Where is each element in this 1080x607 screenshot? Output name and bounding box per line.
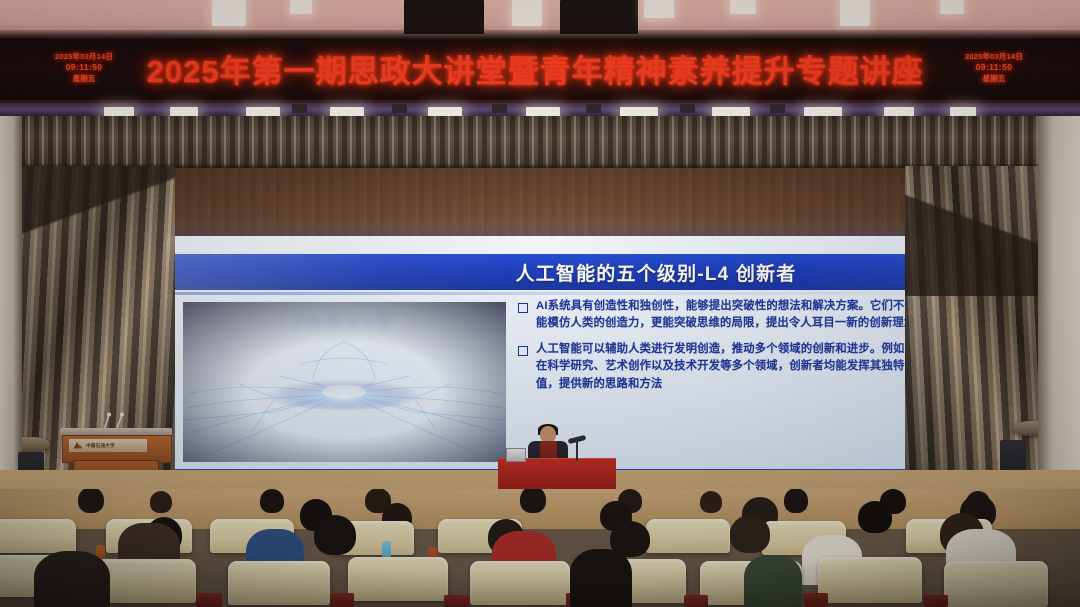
audience-vignette: [0, 489, 1080, 607]
podium-plate-text: 中国石油大学: [86, 443, 115, 449]
ceiling-panel: [560, 0, 638, 34]
slide-title-underline: [166, 292, 928, 295]
ceiling-light: [644, 0, 674, 18]
led-banner: 2025年03月14日 09:11:50 星期五 2025年第一期思政大讲堂暨青…: [0, 38, 1080, 102]
stage-lamp-housing: [680, 104, 695, 113]
side-wall-left: [0, 116, 22, 496]
ceiling-light: [512, 0, 542, 26]
list-item: 人工智能可以辅助人类进行发明创造，推动多个领域的创新和进步。例如，在科学研究、艺…: [518, 341, 916, 392]
stage-lamp-housing: [770, 104, 785, 113]
bullet-text: 人工智能可以辅助人类进行发明创造，推动多个领域的创新和进步。例如，在科学研究、艺…: [536, 341, 916, 392]
side-wall-right: [1038, 116, 1080, 501]
list-item: AI系统具有创造性和独创性，能够提出突破性的想法和解决方案。它们不仅能模仿人类的…: [518, 298, 916, 332]
ceiling-light: [840, 0, 870, 26]
led-time-left: 09:11:50: [66, 62, 103, 73]
auditorium-photo: 2025年03月14日 09:11:50 星期五 2025年第一期思政大讲堂暨青…: [0, 0, 1080, 607]
bullet-square-icon: [518, 303, 528, 313]
curtain-top-shadow: [0, 166, 175, 296]
led-clock-right: 2025年03月14日 09:11:50 星期五: [958, 43, 1030, 93]
slide-bullet-list: AI系统具有创造性和独创性，能够提出突破性的想法和解决方案。它们不仅能模仿人类的…: [518, 298, 916, 402]
ceiling-light: [730, 0, 756, 14]
led-date-left: 2025年03月14日: [55, 52, 113, 62]
mic-stand: [576, 441, 578, 461]
bullet-square-icon: [518, 346, 528, 356]
ceiling-light: [212, 0, 246, 26]
led-banner-title: 2025年第一期思政大讲堂暨青年精神素养提升专题讲座: [125, 45, 945, 91]
podium-front-panel: 中国石油大学: [62, 435, 172, 463]
led-weekday-left: 星期五: [73, 74, 96, 84]
led-date-right: 2025年03月14日: [965, 52, 1023, 62]
stage-lamp-housing: [586, 104, 601, 113]
led-weekday-right: 星期五: [983, 74, 1006, 84]
laptop-icon: [506, 448, 526, 462]
stage-lamp-housing: [492, 104, 507, 113]
podium-nameplate: 中国石油大学: [69, 439, 147, 452]
ceiling-panel: [404, 0, 484, 34]
stage-lamp-housing: [392, 104, 407, 113]
slide-title: 人工智能的五个级别-L4 创新者: [406, 254, 906, 290]
mountain-logo-icon: [72, 441, 83, 450]
stage-lamp-housing: [292, 104, 307, 113]
audience-area: [0, 489, 1080, 607]
ceiling-light: [940, 0, 964, 14]
curtain-pelmet: [0, 116, 1080, 170]
led-time-right: 09:11:50: [976, 62, 1013, 73]
ceiling-light: [290, 0, 312, 14]
jarvis-vignette: [183, 302, 506, 462]
jarvis-image: JARVIS: [183, 302, 506, 462]
pelmet-fold-texture: [0, 116, 1080, 170]
bullet-text: AI系统具有创造性和独创性，能够提出突破性的想法和解决方案。它们不仅能模仿人类的…: [536, 298, 916, 332]
led-clock-left: 2025年03月14日 09:11:50 星期五: [48, 43, 120, 93]
